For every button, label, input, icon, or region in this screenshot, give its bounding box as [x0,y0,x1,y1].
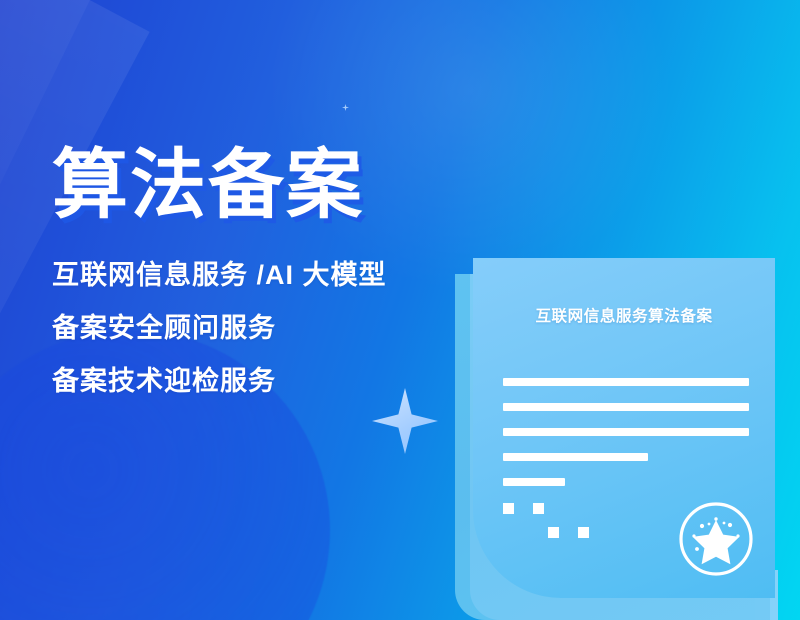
four-point-sparkle-icon [372,388,438,454]
document-dot [548,527,559,538]
banner-text-block: 算法备案 互联网信息服务 /AI 大模型 备案安全顾问服务 备案技术迎检服务 [52,148,452,395]
star-seal-icon [675,498,757,580]
subtitle-line-1: 互联网信息服务 /AI 大模型 [52,262,452,289]
document-dot [578,527,589,538]
document-card-title: 互联网信息服务算法备案 [473,304,775,326]
document-dot [503,503,514,514]
document-card-stack: 互联网信息服务算法备案 [440,258,800,620]
subtitle-line-2: 备案安全顾问服务 [52,315,452,342]
document-line [503,478,565,486]
document-line [503,378,749,386]
document-dot [533,503,544,514]
document-card: 互联网信息服务算法备案 [473,258,775,598]
subtitle-list: 互联网信息服务 /AI 大模型 备案安全顾问服务 备案技术迎检服务 [52,262,452,395]
document-line [503,428,749,436]
subtitle-line-3: 备案技术迎检服务 [52,368,452,395]
document-line [503,453,648,461]
promo-banner: 算法备案 互联网信息服务 /AI 大模型 备案安全顾问服务 备案技术迎检服务 互… [0,0,800,620]
four-point-sparkle-icon-small [342,104,349,111]
document-line [503,403,749,411]
page-title: 算法备案 [52,148,452,224]
